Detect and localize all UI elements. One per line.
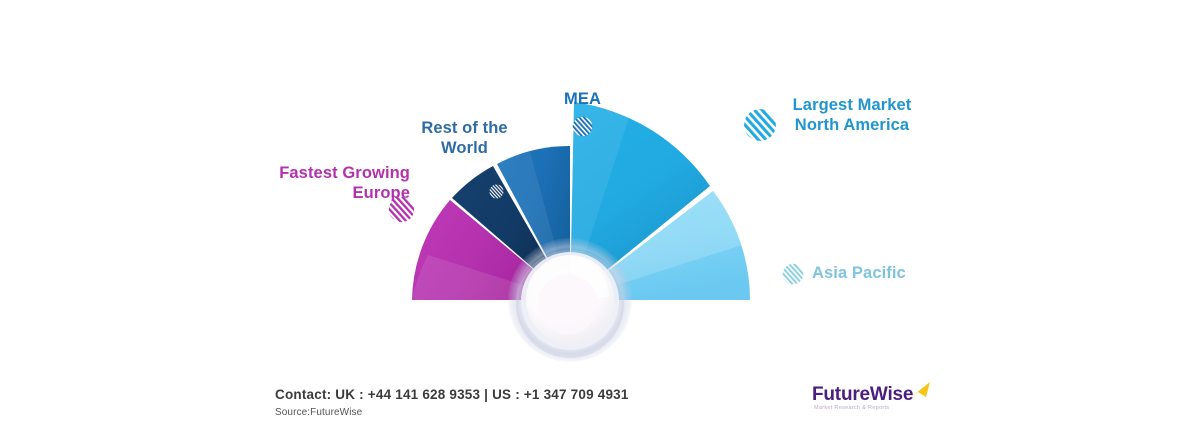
logo-wordmark: FutureWise <box>812 384 913 406</box>
label-europe: Fastest Growing Europe <box>205 163 410 203</box>
striped-circle-icon-mea <box>572 116 593 137</box>
label-asia-pacific: Asia Pacific <box>812 263 932 283</box>
label-rest-of-world: Rest of the World <box>412 118 517 158</box>
hub-inner-tint <box>538 274 598 334</box>
logo-tagline: Market Research & Reports <box>814 405 889 411</box>
striped-circle-icon-asia-pacific <box>782 263 804 285</box>
logo-swoosh-icon <box>904 381 932 403</box>
footer: Contact: UK : +44 141 628 9353 | US : +1… <box>0 380 1200 428</box>
infographic-canvas: Fastest Growing Europe Rest of the World <box>0 0 1200 428</box>
label-mea: MEA <box>530 89 635 109</box>
source-line: Source:FutureWise <box>275 407 362 418</box>
contact-line: Contact: UK : +44 141 628 9353 | US : +1… <box>275 387 629 402</box>
label-north-america: Largest Market North America <box>782 95 922 135</box>
striped-circle-icon-rest-of-world <box>489 184 504 199</box>
striped-circle-icon-europe <box>388 196 415 223</box>
futurewise-logo: FutureWise Market Research & Reports <box>812 384 932 424</box>
striped-circle-icon-north-america <box>743 108 777 142</box>
